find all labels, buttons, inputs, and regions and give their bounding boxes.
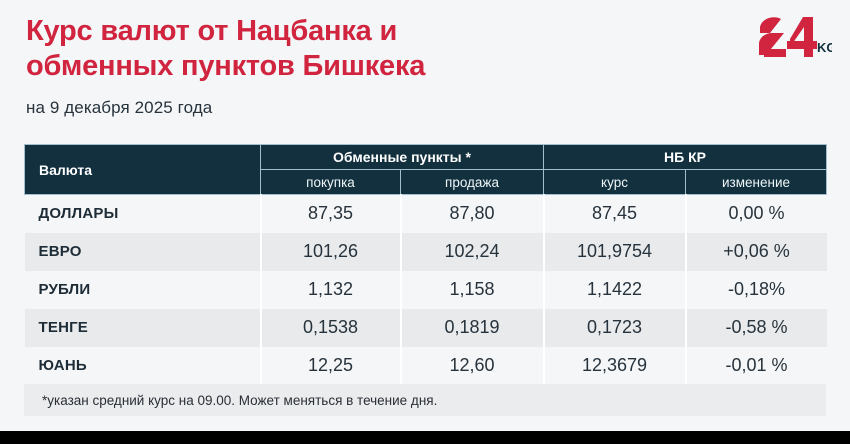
cell-currency-name: ДОЛЛАРЫ	[25, 195, 261, 233]
cell-buy: 0,1538	[261, 309, 401, 347]
cell-rate: 87,45	[544, 195, 686, 233]
page-title-line-1: Курс валют от Нацбанка и	[26, 14, 726, 49]
cell-rate: 0,1723	[544, 309, 686, 347]
logo-24kg-icon: KG	[756, 14, 832, 60]
cell-sell: 0,1819	[401, 309, 544, 347]
currency-rates-table-container: Валюта Обменные пункты * НБ КР покупка п…	[24, 144, 826, 385]
page-title-line-2: обменных пунктов Бишкека	[26, 49, 726, 84]
column-group-header-national-bank: НБ КР	[544, 145, 827, 170]
column-group-header-exchange-points: Обменные пункты *	[261, 145, 544, 170]
cell-change: -0,58 %	[686, 309, 827, 347]
cell-buy: 87,35	[261, 195, 401, 233]
page-subtitle-date: на 9 декабря 2025 года	[26, 98, 826, 118]
cell-change: +0,06 %	[686, 233, 827, 271]
logo-24kg: KG	[756, 14, 832, 60]
table-row: РУБЛИ 1,132 1,158 1,1422 -0,18%	[25, 271, 827, 309]
table-row: ДОЛЛАРЫ 87,35 87,80 87,45 0,00 %	[25, 195, 827, 233]
cell-buy: 12,25	[261, 347, 401, 385]
cell-rate: 1,1422	[544, 271, 686, 309]
column-header-buy: покупка	[261, 170, 401, 195]
column-header-change: изменение	[686, 170, 827, 195]
table-body: ДОЛЛАРЫ 87,35 87,80 87,45 0,00 % ЕВРО 10…	[25, 195, 827, 385]
page-title: Курс валют от Нацбанка и обменных пункто…	[26, 14, 726, 84]
cell-currency-name: РУБЛИ	[25, 271, 261, 309]
cell-currency-name: ЮАНЬ	[25, 347, 261, 385]
cell-currency-name: ТЕНГЕ	[25, 309, 261, 347]
column-header-rate: курс	[544, 170, 686, 195]
cell-rate: 101,9754	[544, 233, 686, 271]
cell-rate: 12,3679	[544, 347, 686, 385]
table-row: ЮАНЬ 12,25 12,60 12,3679 -0,01 %	[25, 347, 827, 385]
table-header-group-row: Валюта Обменные пункты * НБ КР	[25, 145, 827, 170]
footnote-bar: *указан средний курс на 09.00. Может мен…	[24, 384, 826, 416]
cell-sell: 87,80	[401, 195, 544, 233]
column-header-sell: продажа	[401, 170, 544, 195]
cell-change: -0,01 %	[686, 347, 827, 385]
currency-rates-table: Валюта Обменные пункты * НБ КР покупка п…	[24, 144, 827, 385]
table-row: ТЕНГЕ 0,1538 0,1819 0,1723 -0,58 %	[25, 309, 827, 347]
cell-sell: 102,24	[401, 233, 544, 271]
page-header: Курс валют от Нацбанка и обменных пункто…	[0, 0, 850, 118]
cell-change: 0,00 %	[686, 195, 827, 233]
footnote-text: *указан средний курс на 09.00. Может мен…	[24, 393, 437, 408]
cell-currency-name: ЕВРО	[25, 233, 261, 271]
cell-sell: 1,158	[401, 271, 544, 309]
cell-buy: 1,132	[261, 271, 401, 309]
svg-text:KG: KG	[817, 40, 832, 55]
table-row: ЕВРО 101,26 102,24 101,9754 +0,06 %	[25, 233, 827, 271]
table-header: Валюта Обменные пункты * НБ КР покупка п…	[25, 145, 827, 195]
cell-change: -0,18%	[686, 271, 827, 309]
column-header-currency: Валюта	[25, 145, 261, 195]
bottom-black-bar	[0, 431, 850, 444]
cell-buy: 101,26	[261, 233, 401, 271]
cell-sell: 12,60	[401, 347, 544, 385]
